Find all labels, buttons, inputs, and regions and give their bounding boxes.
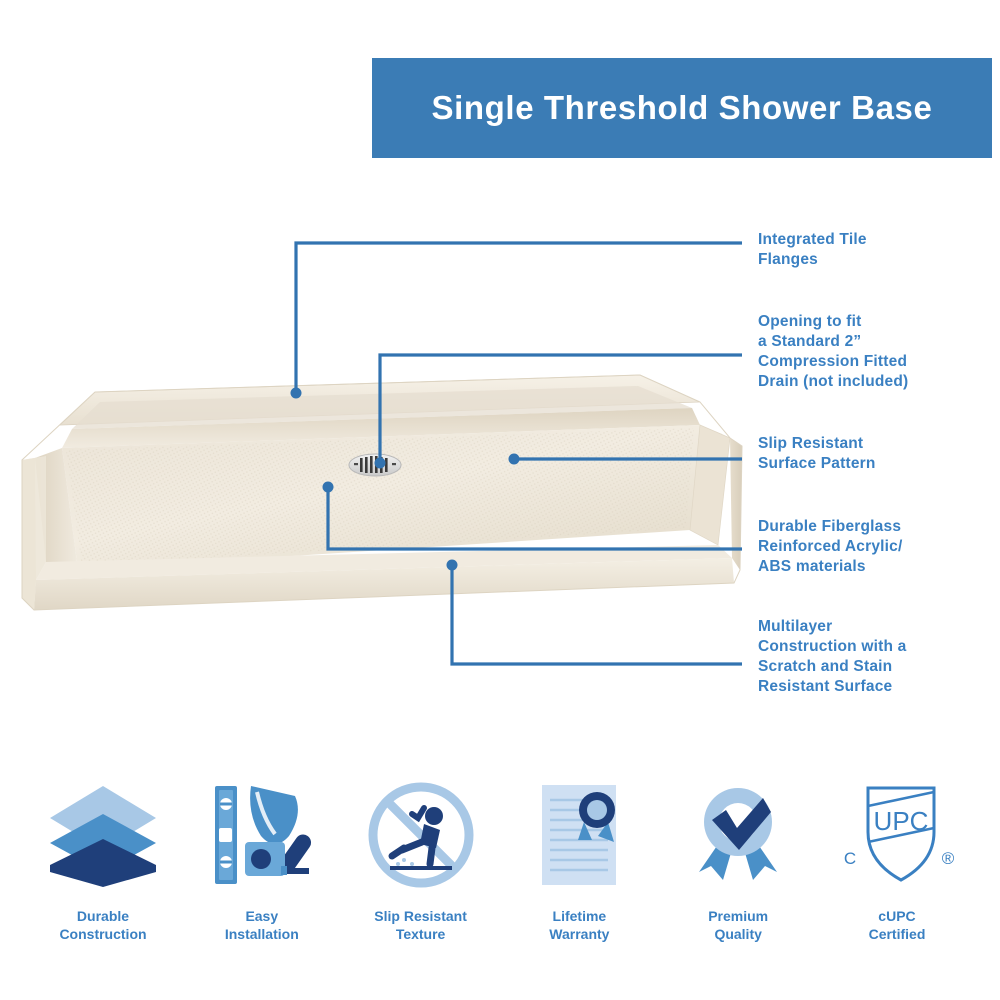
callout-label-slip-resistant-surface: Slip Resistant Surface Pattern (758, 434, 876, 474)
callout-label-integrated-tile-flanges: Integrated Tile Flanges (758, 230, 867, 270)
upc-left-mark: C (844, 849, 856, 868)
trowel-level-icon (202, 775, 322, 895)
certificate-icon (519, 775, 639, 895)
shower-base-illustration (0, 330, 760, 630)
feature-cupc-certified: UPC C ® cUPC Certified (822, 775, 972, 975)
feature-caption-easy-installation: Easy Installation (225, 907, 299, 943)
upc-shield-icon: UPC C ® (837, 775, 957, 895)
feature-caption-cupc-certified: cUPC Certified (869, 907, 926, 943)
upc-shield-text: UPC (874, 806, 929, 836)
callout-label-drain-opening: Opening to fit a Standard 2” Compression… (758, 312, 908, 392)
layers-icon (43, 775, 163, 895)
callout-label-durable-materials: Durable Fiberglass Reinforced Acrylic/ A… (758, 517, 903, 577)
feature-caption-lifetime-warranty: Lifetime Warranty (549, 907, 609, 943)
feature-durable-construction: Durable Construction (28, 775, 178, 975)
rosette-check-icon (678, 775, 798, 895)
feature-caption-durable-construction: Durable Construction (59, 907, 146, 943)
drain-grate (349, 454, 401, 476)
no-slip-icon (361, 775, 481, 895)
callout-label-multilayer-construction: Multilayer Construction with a Scratch a… (758, 617, 906, 697)
feature-slip-resistant: Slip Resistant Texture (346, 775, 496, 975)
feature-lifetime-warranty: Lifetime Warranty (504, 775, 654, 975)
title-banner: Single Threshold Shower Base (372, 58, 992, 158)
page-title: Single Threshold Shower Base (432, 89, 933, 127)
feature-caption-premium-quality: Premium Quality (708, 907, 768, 943)
product-infographic: Single Threshold Shower Base (0, 0, 1000, 1000)
feature-easy-installation: Easy Installation (187, 775, 337, 975)
feature-strip: Durable Construction (0, 775, 1000, 975)
shower-floor-texture (66, 428, 694, 566)
shower-base-svg (0, 330, 760, 630)
feature-premium-quality: Premium Quality (663, 775, 813, 975)
upc-right-mark: ® (942, 849, 955, 868)
feature-caption-slip-resistant: Slip Resistant Texture (374, 907, 467, 943)
